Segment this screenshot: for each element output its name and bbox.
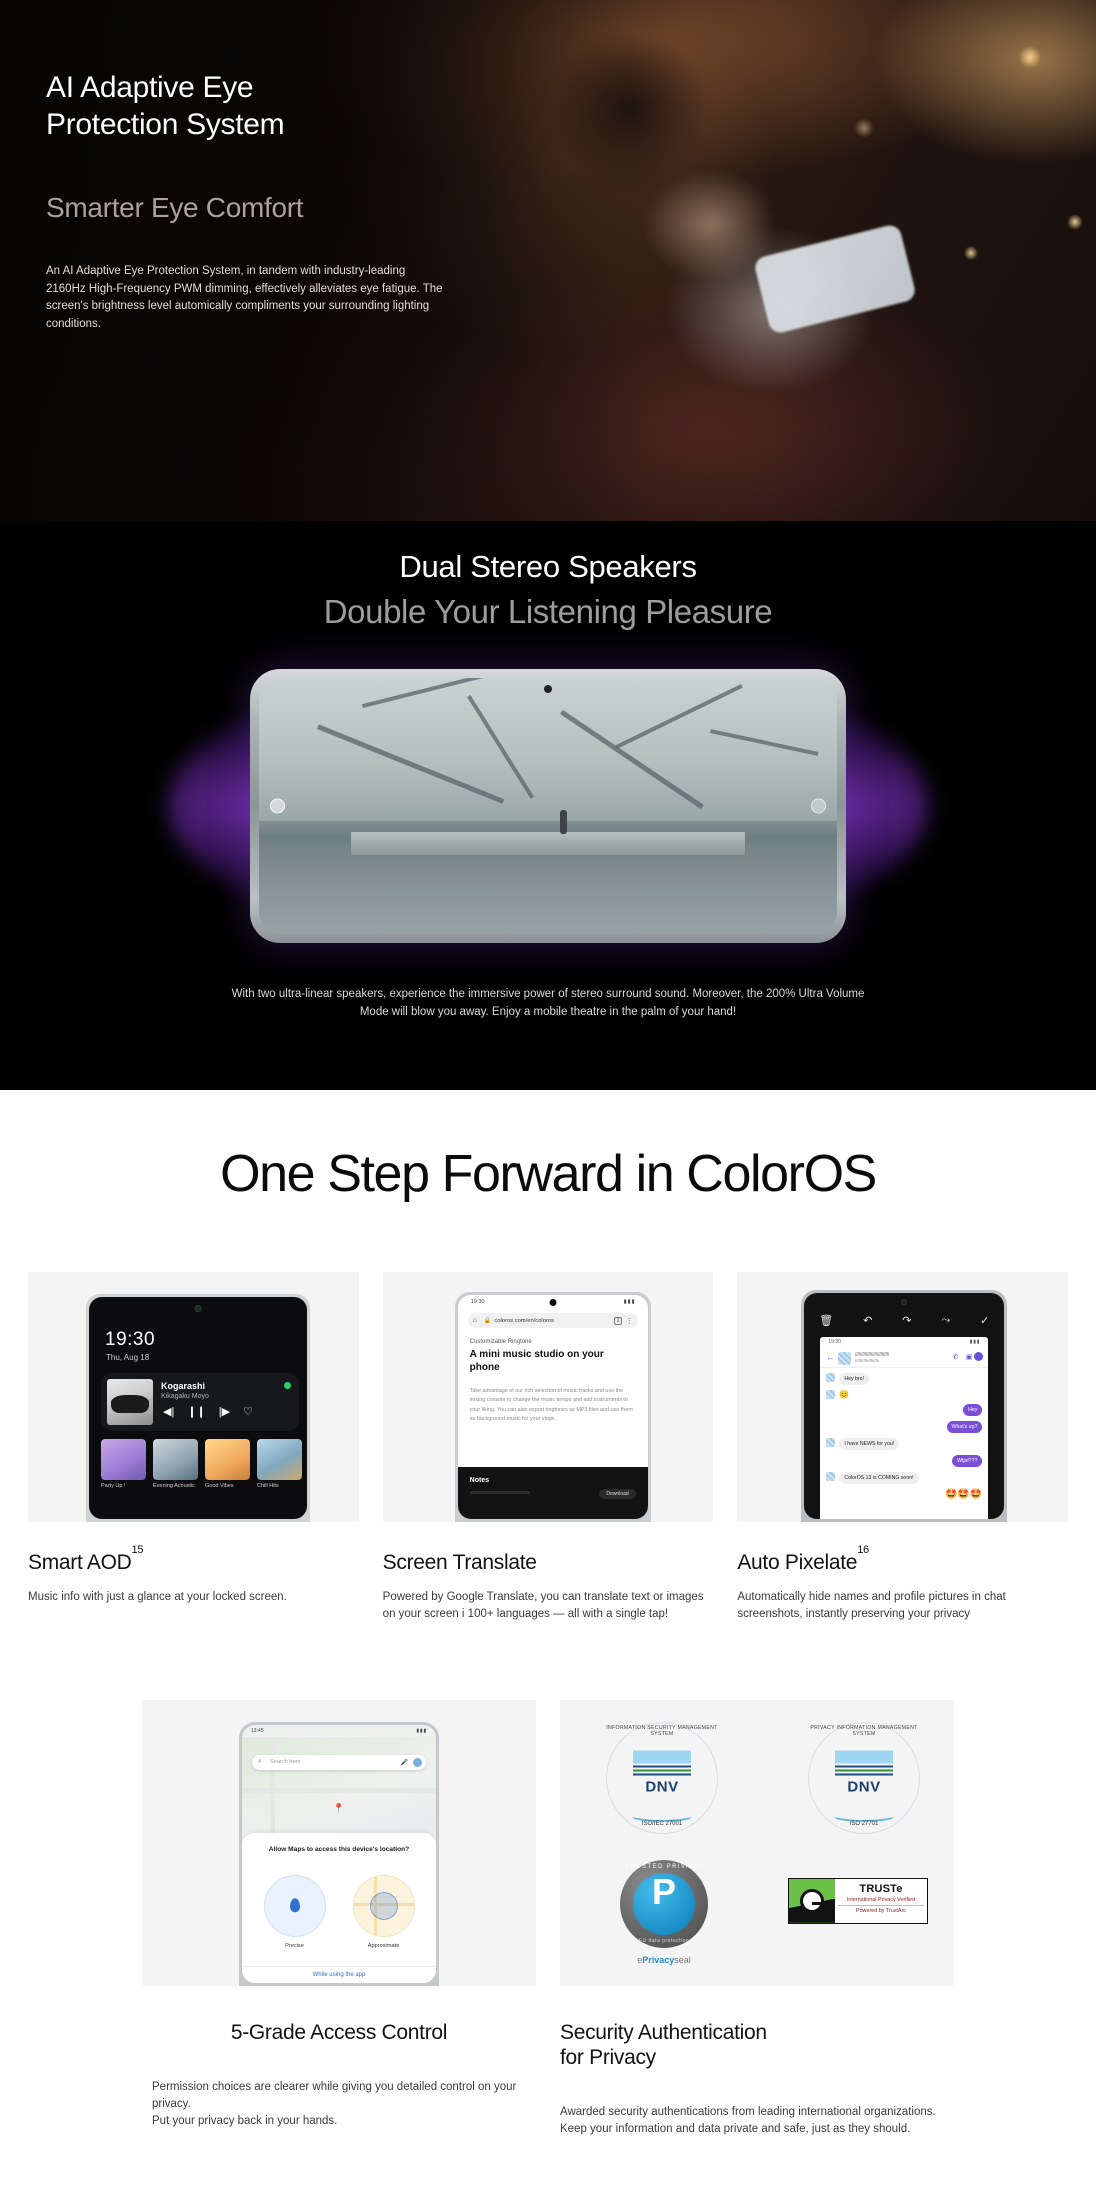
permission-question: Allow Maps to access this device's locat… — [242, 1845, 436, 1854]
pixelated-avatar — [826, 1438, 835, 1447]
feature-title-text: Smart AOD — [28, 1551, 132, 1574]
coloros-section: One Step Forward in ColorOS 19:30 Thu, A… — [0, 1090, 1096, 2179]
feature-title: Screen Translate — [383, 1550, 714, 1575]
home-icon[interactable]: ⌂ — [473, 1317, 477, 1324]
eprivacy-badge: TRUSTED PRIVACY P EU data protection — [620, 1860, 708, 1948]
speakers-phone-stage — [0, 651, 1096, 961]
player-controls[interactable]: ◀| ❙❙ |▶ ♡ — [163, 1407, 253, 1418]
game-character — [560, 810, 567, 834]
eprivacy-caption: ePrivacyseal — [618, 1955, 710, 1965]
map-canvas[interactable]: ⌕ Search here 🎤 📍 — [242, 1737, 436, 1833]
status-time: 19:30 — [471, 1299, 485, 1305]
truste-e-icon — [800, 1889, 824, 1913]
certification-eprivacyseal: TRUSTED PRIVACY P EU data protection ePr… — [618, 1860, 710, 1965]
certifications-visual: INFORMATION SECURITY MANAGEMENT SYSTEM D… — [560, 1700, 954, 1986]
tab-count-icon[interactable]: 1 — [614, 1317, 621, 1325]
coloros-feature-grid: 19:30 Thu, Aug 18 Kogarashi Kikagaku Moy… — [28, 1272, 1068, 1624]
lockscreen-time: 19:30 — [105, 1329, 155, 1351]
coloros-heading: One Step Forward in ColorOS — [0, 1144, 1096, 1204]
badge-standard: ISO/IEC 27001 — [606, 1821, 718, 1827]
chat-row: 😊 — [826, 1390, 982, 1399]
back-arrow-icon[interactable]: ← — [826, 1353, 834, 1362]
chat-row: Wtjsf??? — [826, 1455, 982, 1467]
pixelated-avatar — [826, 1472, 835, 1481]
eye-protection-title: AI Adaptive Eye Protection System — [46, 70, 516, 143]
playlist-thumbnail — [153, 1439, 198, 1480]
more-options-icon[interactable]: ⋮ — [626, 1317, 633, 1325]
option-label: Approximate — [345, 1943, 422, 1949]
badge-letter: P — [620, 1874, 708, 1910]
status-icons: ▮▮▮ — [970, 1339, 981, 1345]
pause-icon[interactable]: ❙❙ — [187, 1407, 205, 1418]
chat-bubble: ColorOS 13 is COMING soon! — [839, 1472, 918, 1484]
search-placeholder: Search here — [270, 1759, 300, 1765]
feature-title: Security Authentication for Privacy — [560, 2020, 954, 2070]
speakers-heading-block: Dual Stereo Speakers Double Your Listeni… — [0, 521, 1096, 631]
truste-badge: TRUSTe International Privacy Verified Po… — [788, 1878, 928, 1924]
status-icons: ▮▮▮ — [624, 1299, 636, 1305]
feature-description: Awarded security authentications from le… — [560, 2104, 954, 2139]
chat-bubble-outgoing: What's up? — [947, 1421, 983, 1433]
aod-phone-screen: 19:30 Thu, Aug 18 Kogarashi Kikagaku Moy… — [89, 1297, 307, 1519]
eye-protection-section: AI Adaptive Eye Protection System Smarte… — [0, 0, 1096, 521]
chat-message-list: Hey bro! 😊 Hey What's up — [820, 1368, 988, 1505]
feature-description: Music info with just a glance at your lo… — [28, 1589, 359, 1606]
chat-status-bar: 19:30 ▮▮▮ — [820, 1337, 988, 1348]
dnv-logo-bars — [633, 1751, 691, 1776]
auto-pixelate-visual: 🗑 ↶ ↷ ⤳ ✓ 19:30 ▮▮▮ ← — [737, 1272, 1068, 1522]
camera-icon — [549, 1299, 556, 1306]
smart-aod-visual: 19:30 Thu, Aug 18 Kogarashi Kikagaku Moy… — [28, 1272, 359, 1522]
screenshot-edit-toolbar[interactable]: 🗑 ↶ ↷ ⤳ ✓ — [804, 1309, 1004, 1331]
chat-bubble: I have NEWS for you! — [839, 1438, 899, 1450]
delete-icon[interactable]: 🗑 — [819, 1314, 833, 1327]
game-platform — [351, 832, 744, 855]
music-player-widget[interactable]: Kogarashi Kikagaku Moyo ◀| ❙❙ |▶ ♡ — [101, 1373, 299, 1431]
playlist-label: Evening Acoustic — [153, 1483, 198, 1490]
footer-title: Notes — [470, 1477, 489, 1484]
favorite-heart-icon[interactable]: ♡ — [243, 1407, 253, 1418]
badge-bottom-text: EU data protection — [620, 1938, 708, 1944]
chat-row: Hey — [826, 1404, 982, 1416]
pixelated-avatar — [826, 1390, 835, 1399]
chat-row: ColorOS 13 is COMING soon! — [826, 1472, 982, 1484]
certification-truste: TRUSTe International Privacy Verified Po… — [788, 1878, 928, 1924]
chat-bubble-outgoing: Hey — [963, 1404, 982, 1416]
truste-line-2: International Privacy Verified — [838, 1897, 924, 1906]
caption-part-b: Privacy — [642, 1955, 674, 1965]
feature-title: 5-Grade Access Control — [142, 2020, 536, 2045]
search-icon: ⌕ — [258, 1758, 262, 1766]
precise-location-icon — [264, 1875, 326, 1937]
feature-description: Permission choices are clearer while giv… — [142, 2079, 536, 2131]
permission-option-precise[interactable]: Precise — [256, 1875, 333, 1949]
badge-center: DNV — [633, 1751, 691, 1796]
playlist-label: Good Vibes — [205, 1483, 250, 1490]
page-footer-panel: Notes Download — [458, 1467, 648, 1519]
badge-ring-text: INFORMATION SECURITY MANAGEMENT SYSTEM — [606, 1725, 718, 1737]
share-icon[interactable]: ⤳ — [941, 1314, 950, 1327]
feature-card-security-authentication: INFORMATION SECURITY MANAGEMENT SYSTEM D… — [560, 1700, 954, 2139]
chat-emoji: 😊 — [839, 1390, 849, 1399]
info-icon[interactable] — [974, 1352, 983, 1361]
playlist-tile[interactable]: Chill Hits — [257, 1439, 302, 1490]
playlist-tile[interactable]: Good Vibes — [205, 1439, 250, 1490]
feature-title-text: Screen Translate — [383, 1551, 537, 1574]
option-label: Precise — [256, 1943, 333, 1949]
truste-text-block: TRUSTe International Privacy Verified Po… — [835, 1879, 927, 1923]
footnote-marker: 16 — [857, 1544, 869, 1556]
browser-phone-screen: 19:30 ▮▮▮ ⌂ 🔒 coloros.com/en/coloros 1 ⋮… — [458, 1295, 648, 1519]
playlist-thumbnail — [257, 1439, 302, 1480]
permission-options[interactable]: Precise Approximate — [256, 1875, 422, 1949]
song-artist: Kikagaku Moyo — [161, 1393, 209, 1400]
playlist-tile[interactable]: Party Up ! — [101, 1439, 146, 1490]
certification-dnv-pims: PRIVACY INFORMATION MANAGEMENT SYSTEM DN… — [808, 1722, 920, 1834]
caption-part-c: seal — [674, 1955, 691, 1965]
playlist-label: Chill Hits — [257, 1483, 302, 1490]
chat-phone-screen: 🗑 ↶ ↷ ⤳ ✓ 19:30 ▮▮▮ ← — [804, 1293, 1004, 1519]
dnv-logo-bars — [835, 1751, 893, 1776]
footer-download-button[interactable]: Download — [599, 1489, 635, 1499]
call-icon[interactable]: ✆ — [952, 1353, 958, 1361]
badge-top-text: TRUSTED PRIVACY — [620, 1864, 708, 1870]
feature-card-smart-aod: 19:30 Thu, Aug 18 Kogarashi Kikagaku Moy… — [28, 1272, 359, 1624]
playlist-thumbnail — [101, 1439, 146, 1480]
game-hud-left-icon[interactable] — [270, 799, 285, 814]
screen-translate-visual: 19:30 ▮▮▮ ⌂ 🔒 coloros.com/en/coloros 1 ⋮… — [383, 1272, 714, 1522]
game-water — [259, 850, 837, 934]
permission-action-while-using[interactable]: While using the app — [242, 1966, 436, 1983]
pixelated-contact-name — [855, 1352, 889, 1356]
maps-phone-mockup: 13:45 ▮▮▮ ⌕ Search here 🎤 📍 — [239, 1722, 439, 1986]
camera-icon — [901, 1299, 907, 1305]
video-call-icon[interactable]: ▣ — [966, 1353, 973, 1361]
map-pin-icon: 📍 — [333, 1803, 344, 1814]
status-time: 13:45 — [251, 1728, 264, 1734]
maps-phone-screen: 13:45 ▮▮▮ ⌕ Search here 🎤 📍 — [242, 1725, 436, 1983]
camera-icon — [195, 1305, 202, 1312]
status-bar: 13:45 ▮▮▮ — [242, 1725, 436, 1737]
footnote-marker: 15 — [132, 1544, 144, 1556]
eye-protection-description: An AI Adaptive Eye Protection System, in… — [46, 263, 448, 334]
feature-card-screen-translate: 19:30 ▮▮▮ ⌂ 🔒 coloros.com/en/coloros 1 ⋮… — [383, 1272, 714, 1624]
speakers-description: With two ultra-linear speakers, experien… — [228, 985, 868, 1022]
feature-title-text: Auto Pixelate — [737, 1551, 857, 1574]
dual-stereo-speakers-section: Dual Stereo Speakers Double Your Listeni… — [0, 521, 1096, 1090]
page-headline: A mini music studio on your phone — [470, 1349, 636, 1374]
avatar[interactable] — [413, 1758, 422, 1767]
lockscreen-date: Thu, Aug 18 — [106, 1353, 149, 1362]
feature-title: Auto Pixelate16 — [737, 1550, 1068, 1575]
dnv-badge: PRIVACY INFORMATION MANAGEMENT SYSTEM DN… — [808, 1722, 920, 1834]
playlist-tile[interactable]: Evening Acoustic — [153, 1439, 198, 1490]
url-text: coloros.com/en/coloros — [494, 1318, 554, 1324]
phone-screen-game-scene — [259, 678, 837, 934]
footer-divider — [470, 1491, 530, 1494]
certification-dnv-isms: INFORMATION SECURITY MANAGEMENT SYSTEM D… — [606, 1722, 718, 1834]
badge-center: DNV — [835, 1751, 893, 1796]
certification-badges: INFORMATION SECURITY MANAGEMENT SYSTEM D… — [560, 1700, 954, 1986]
chat-bubble: Hey bro! — [839, 1373, 869, 1385]
dnv-badge: INFORMATION SECURITY MANAGEMENT SYSTEM D… — [606, 1722, 718, 1834]
access-control-visual: 13:45 ▮▮▮ ⌕ Search here 🎤 📍 — [142, 1700, 536, 1986]
coloros-privacy-grid: 13:45 ▮▮▮ ⌕ Search here 🎤 📍 — [142, 1700, 954, 2139]
feature-description: Powered by Google Translate, you can tra… — [383, 1589, 714, 1624]
aod-phone-mockup: 19:30 Thu, Aug 18 Kogarashi Kikagaku Moy… — [86, 1294, 310, 1522]
truste-line-3: Powered by TrustArc — [838, 1908, 924, 1914]
permission-actions[interactable]: While using the app — [242, 1966, 436, 1983]
status-time: 19:30 — [828, 1339, 841, 1345]
feature-title: Smart AOD15 — [28, 1550, 359, 1575]
chat-phone-mockup: 🗑 ↶ ↷ ⤳ ✓ 19:30 ▮▮▮ ← — [801, 1290, 1007, 1522]
dnv-wordmark: DNV — [835, 1779, 893, 1796]
redo-icon[interactable]: ↷ — [902, 1314, 911, 1327]
album-art — [107, 1379, 153, 1425]
captured-chat-screenshot: 19:30 ▮▮▮ ← ✆ ▣ — [820, 1337, 988, 1519]
chat-bubble-outgoing: Wtjsf??? — [952, 1455, 982, 1467]
browser-address-bar[interactable]: ⌂ 🔒 coloros.com/en/coloros 1 ⋮ — [468, 1313, 638, 1328]
truste-brand: TRUSTe — [838, 1883, 924, 1895]
song-title: Kogarashi — [161, 1381, 205, 1391]
landscape-phone-mockup — [250, 669, 846, 943]
feature-description: Automatically hide names and profile pic… — [737, 1589, 1068, 1624]
microphone-icon[interactable]: 🎤 — [401, 1759, 408, 1766]
check-icon[interactable]: ✓ — [980, 1314, 989, 1327]
front-camera-icon — [544, 685, 552, 693]
truste-emblem — [789, 1879, 835, 1923]
page-eyebrow: Customizable Ringtone — [470, 1339, 532, 1345]
chat-row: What's up? — [826, 1421, 982, 1433]
badge-standard: ISO 27701 — [808, 1821, 920, 1827]
feature-card-auto-pixelate: 🗑 ↶ ↷ ⤳ ✓ 19:30 ▮▮▮ ← — [737, 1272, 1068, 1624]
permission-dialog: Allow Maps to access this device's locat… — [242, 1833, 436, 1983]
pixelated-avatar — [826, 1373, 835, 1382]
dnv-wordmark: DNV — [633, 1779, 691, 1796]
page-body-text: Take advantage of our rich selection of … — [470, 1387, 636, 1425]
feature-card-access-control: 13:45 ▮▮▮ ⌕ Search here 🎤 📍 — [142, 1700, 536, 2139]
undo-icon[interactable]: ↶ — [863, 1314, 872, 1327]
playlist-thumbnail — [205, 1439, 250, 1480]
approximate-location-icon — [353, 1875, 415, 1937]
next-track-icon[interactable]: |▶ — [219, 1407, 230, 1418]
badge-ring-text: PRIVACY INFORMATION MANAGEMENT SYSTEM — [808, 1725, 920, 1737]
playlist-label: Party Up ! — [101, 1483, 146, 1490]
pixelated-contact-status — [855, 1359, 879, 1362]
chat-header: ← ✆ ▣ — [820, 1348, 988, 1368]
playing-status-dot — [284, 1382, 291, 1389]
previous-track-icon[interactable]: ◀| — [163, 1407, 174, 1418]
playlist-tiles[interactable]: Party Up ! Evening Acoustic Good Vibes — [101, 1439, 299, 1490]
chat-reactions: 🤩🤩🤩 — [826, 1489, 982, 1500]
eye-protection-copy: AI Adaptive Eye Protection System Smarte… — [46, 70, 516, 334]
permission-option-approximate[interactable]: Approximate — [345, 1875, 422, 1949]
browser-phone-mockup: 19:30 ▮▮▮ ⌂ 🔒 coloros.com/en/coloros 1 ⋮… — [455, 1292, 651, 1522]
chat-row: I have NEWS for you! — [826, 1438, 982, 1450]
lock-icon: 🔒 — [484, 1317, 491, 1324]
status-icons: ▮▮▮ — [416, 1728, 427, 1734]
speakers-title: Dual Stereo Speakers — [0, 549, 1096, 585]
map-search-bar[interactable]: ⌕ Search here 🎤 — [252, 1755, 426, 1770]
speakers-subtitle: Double Your Listening Pleasure — [0, 593, 1096, 631]
eye-protection-subtitle: Smarter Eye Comfort — [46, 191, 516, 225]
chat-row: Hey bro! — [826, 1373, 982, 1385]
pixelated-avatar — [838, 1352, 851, 1365]
game-hud-right-icon[interactable] — [811, 799, 826, 814]
